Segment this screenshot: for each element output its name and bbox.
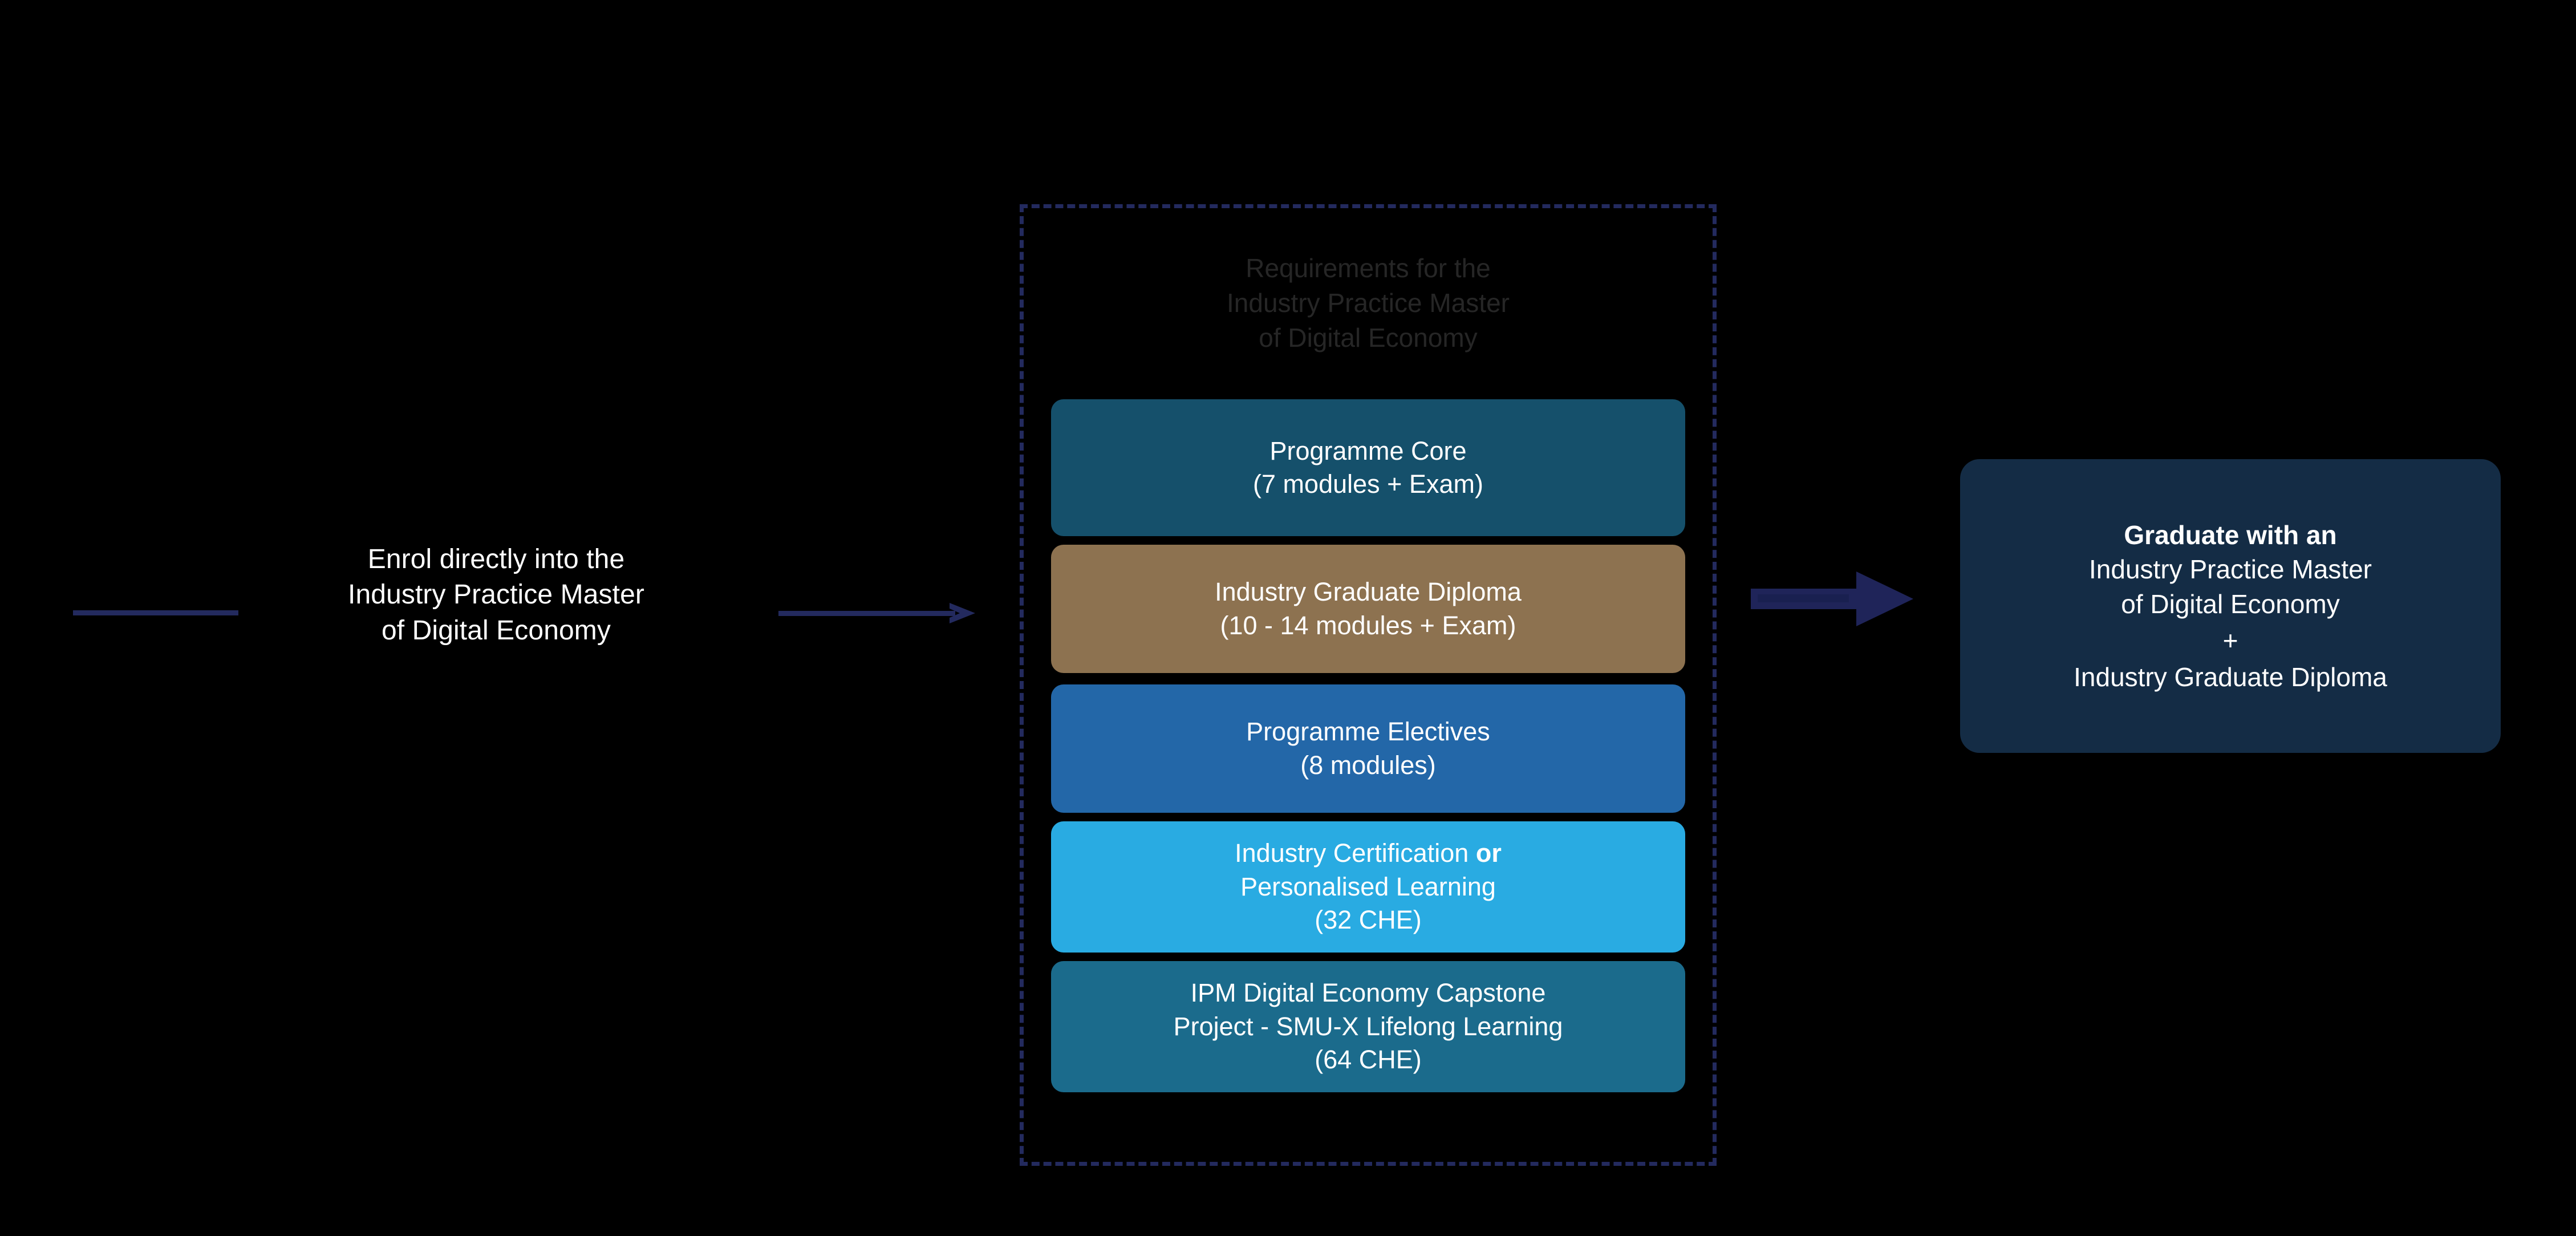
thin-right-arrow-icon <box>778 602 975 625</box>
graduate-line-2: of Digital Economy <box>1960 587 2501 622</box>
requirement-card-industry-certification[interactable]: Industry Certification or Personalised L… <box>1051 821 1685 953</box>
graduate-line-1: Industry Practice Master <box>1960 552 2501 587</box>
graduate-plus-symbol: + <box>1960 622 2501 660</box>
thick-right-arrow-icon <box>1751 565 1928 633</box>
graduate-heading: Graduate with an <box>1960 518 2501 553</box>
requirement-card-ipm-capstone-project[interactable]: IPM Digital Economy Capstone Project - S… <box>1051 961 1685 1092</box>
requirement-card-industry-graduate-diploma[interactable]: Industry Graduate Diploma (10 - 14 modul… <box>1051 545 1685 673</box>
card-diploma-line-2: (10 - 14 modules + Exam) <box>1051 609 1685 643</box>
card-capstone-line-1: IPM Digital Economy Capstone <box>1051 976 1685 1010</box>
enrol-caption-line-2: Industry Practice Master <box>251 577 741 613</box>
graduate-outcome-card[interactable]: Graduate with an Industry Practice Maste… <box>1960 459 2501 753</box>
card-cert-line-2: Personalised Learning <box>1051 870 1685 904</box>
enrol-caption-line-1: Enrol directly into the <box>251 542 741 577</box>
requirement-card-programme-electives[interactable]: Programme Electives (8 modules) <box>1051 684 1685 813</box>
enrol-caption: Enrol directly into the Industry Practic… <box>251 542 741 649</box>
requirements-title: Requirements for the Industry Practice M… <box>1021 251 1715 356</box>
graduate-line-3: Industry Graduate Diploma <box>1960 660 2501 695</box>
card-core-line-2: (7 modules + Exam) <box>1051 468 1685 501</box>
enrol-caption-line-3: of Digital Economy <box>251 613 741 649</box>
card-cert-line-1: Industry Certification or <box>1051 837 1685 870</box>
card-electives-line-1: Programme Electives <box>1051 715 1685 749</box>
card-diploma-line-1: Industry Graduate Diploma <box>1051 576 1685 609</box>
card-cert-line-3: (32 CHE) <box>1051 903 1685 937</box>
requirement-card-programme-core[interactable]: Programme Core (7 modules + Exam) <box>1051 399 1685 536</box>
card-core-line-1: Programme Core <box>1051 435 1685 468</box>
entry-connector-line <box>73 610 238 615</box>
card-electives-line-2: (8 modules) <box>1051 749 1685 783</box>
requirements-title-line-2: Industry Practice Master <box>1021 286 1715 321</box>
card-capstone-line-3: (64 CHE) <box>1051 1043 1685 1077</box>
requirements-title-line-3: of Digital Economy <box>1021 321 1715 355</box>
requirements-title-line-1: Requirements for the <box>1021 251 1715 286</box>
card-capstone-line-2: Project - SMU-X Lifelong Learning <box>1051 1010 1685 1044</box>
